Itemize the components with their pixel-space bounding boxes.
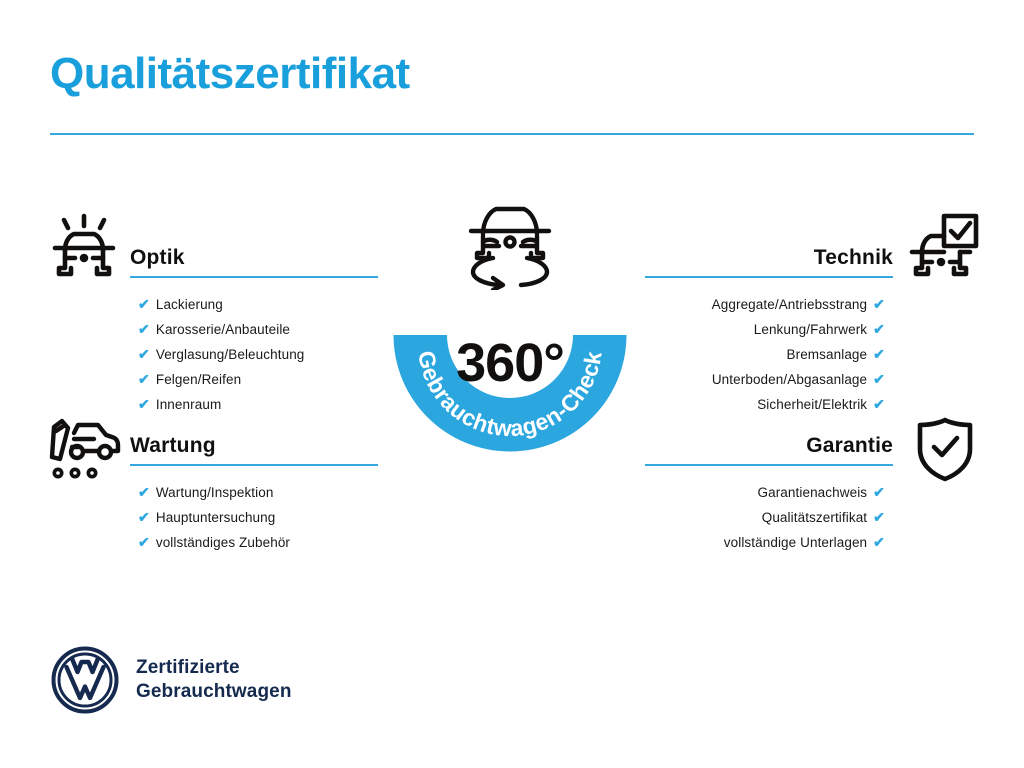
car-front-shine-icon	[48, 212, 120, 285]
car-front-rotate-icon	[455, 198, 565, 295]
brand-line-1: Zertifizierte	[136, 656, 292, 680]
car-front-checkbox-icon	[908, 212, 980, 285]
ring-chamfer-right	[573, 288, 627, 335]
list-item-label: Innenraum	[156, 397, 221, 412]
list-item: Lenkung/Fahrwerk✔	[645, 317, 893, 342]
section-wartung-header: Wartung	[130, 424, 378, 466]
section-optik-header: Optik	[130, 236, 378, 278]
list-item: Bremsanlage✔	[645, 342, 893, 367]
list-item: Garantienachweis✔	[645, 480, 893, 505]
section-wartung-list: ✔Wartung/Inspektion ✔Hauptuntersuchung ✔…	[130, 480, 378, 555]
check-icon: ✔	[138, 534, 150, 550]
list-item: vollständige Unterlagen✔	[645, 530, 893, 555]
list-item: ✔Lackierung	[130, 292, 378, 317]
list-item-label: Felgen/Reifen	[156, 372, 241, 387]
section-garantie-title: Garantie	[806, 434, 893, 458]
check-icon: ✔	[138, 371, 150, 387]
brand-block: Zertifizierte Gebrauchtwagen	[50, 645, 292, 715]
section-wartung: Wartung ✔Wartung/Inspektion ✔Hauptunters…	[130, 424, 378, 555]
section-optik-title: Optik	[130, 246, 185, 270]
section-garantie-header: Garantie	[645, 424, 893, 466]
check-icon: ✔	[873, 346, 885, 362]
list-item: Sicherheit/Elektrik✔	[645, 392, 893, 417]
list-item: ✔Wartung/Inspektion	[130, 480, 378, 505]
section-technik: Technik Aggregate/Antriebsstrang✔ Lenkun…	[645, 236, 893, 417]
section-garantie: Garantie Garantienachweis✔ Qualitätszert…	[645, 424, 893, 555]
title-divider	[50, 133, 974, 135]
list-item: ✔vollständiges Zubehör	[130, 530, 378, 555]
list-item: ✔Verglasung/Beleuchtung	[130, 342, 378, 367]
list-item-label: Qualitätszertifikat	[762, 510, 867, 525]
shield-check-icon	[914, 416, 976, 489]
badge-360-gebrauchtwagen-check: Gebrauchtwagen-Check 360°	[370, 196, 650, 486]
brand-line-2: Gebrauchtwagen	[136, 680, 292, 704]
list-item: Qualitätszertifikat✔	[645, 505, 893, 530]
section-technik-title: Technik	[814, 246, 893, 270]
list-item: Unterboden/Abgasanlage✔	[645, 367, 893, 392]
check-icon: ✔	[873, 534, 885, 550]
check-icon: ✔	[873, 371, 885, 387]
section-technik-list: Aggregate/Antriebsstrang✔ Lenkung/Fahrwe…	[645, 292, 893, 417]
check-icon: ✔	[138, 321, 150, 337]
list-item-label: Lackierung	[156, 297, 223, 312]
list-item: ✔Hauptuntersuchung	[130, 505, 378, 530]
check-icon: ✔	[873, 509, 885, 525]
list-item-label: Wartung/Inspektion	[156, 485, 274, 500]
volkswagen-logo-icon	[50, 645, 120, 715]
check-icon: ✔	[138, 396, 150, 412]
list-item: ✔Karosserie/Anbauteile	[130, 317, 378, 342]
check-icon: ✔	[138, 484, 150, 500]
page-title: Qualitätszertifikat	[50, 52, 410, 96]
check-icon: ✔	[138, 346, 150, 362]
list-item-label: Garantienachweis	[757, 485, 867, 500]
check-icon: ✔	[873, 321, 885, 337]
list-item: ✔Innenraum	[130, 392, 378, 417]
brand-text: Zertifizierte Gebrauchtwagen	[136, 656, 292, 704]
section-technik-divider	[645, 276, 893, 279]
check-icon: ✔	[873, 484, 885, 500]
list-item-label: Unterboden/Abgasanlage	[712, 372, 867, 387]
badge-center-value: 360°	[370, 336, 650, 390]
list-item: Aggregate/Antriebsstrang✔	[645, 292, 893, 317]
certificate-page: Qualitätszertifikat Optik ✔Lackierun	[0, 0, 1024, 768]
ring-chamfer-left	[394, 288, 448, 335]
list-item-label: Hauptuntersuchung	[156, 510, 276, 525]
list-item-label: Sicherheit/Elektrik	[757, 397, 867, 412]
list-item-label: vollständiges Zubehör	[156, 535, 290, 550]
check-icon: ✔	[873, 296, 885, 312]
list-item: ✔Felgen/Reifen	[130, 367, 378, 392]
list-item-label: Verglasung/Beleuchtung	[156, 347, 305, 362]
section-optik-divider	[130, 276, 378, 279]
section-optik-list: ✔Lackierung ✔Karosserie/Anbauteile ✔Verg…	[130, 292, 378, 417]
list-item-label: Karosserie/Anbauteile	[156, 322, 290, 337]
list-item-label: Bremsanlage	[787, 347, 868, 362]
list-item-label: Aggregate/Antriebsstrang	[712, 297, 868, 312]
section-garantie-divider	[645, 464, 893, 467]
section-wartung-divider	[130, 464, 378, 467]
car-service-pen-icon	[48, 417, 126, 486]
check-icon: ✔	[138, 509, 150, 525]
section-garantie-list: Garantienachweis✔ Qualitätszertifikat✔ v…	[645, 480, 893, 555]
section-wartung-title: Wartung	[130, 434, 216, 458]
list-item-label: vollständige Unterlagen	[724, 535, 867, 550]
section-optik: Optik ✔Lackierung ✔Karosserie/Anbauteile…	[130, 236, 378, 417]
section-technik-header: Technik	[645, 236, 893, 278]
check-icon: ✔	[138, 296, 150, 312]
check-icon: ✔	[873, 396, 885, 412]
list-item-label: Lenkung/Fahrwerk	[754, 322, 867, 337]
